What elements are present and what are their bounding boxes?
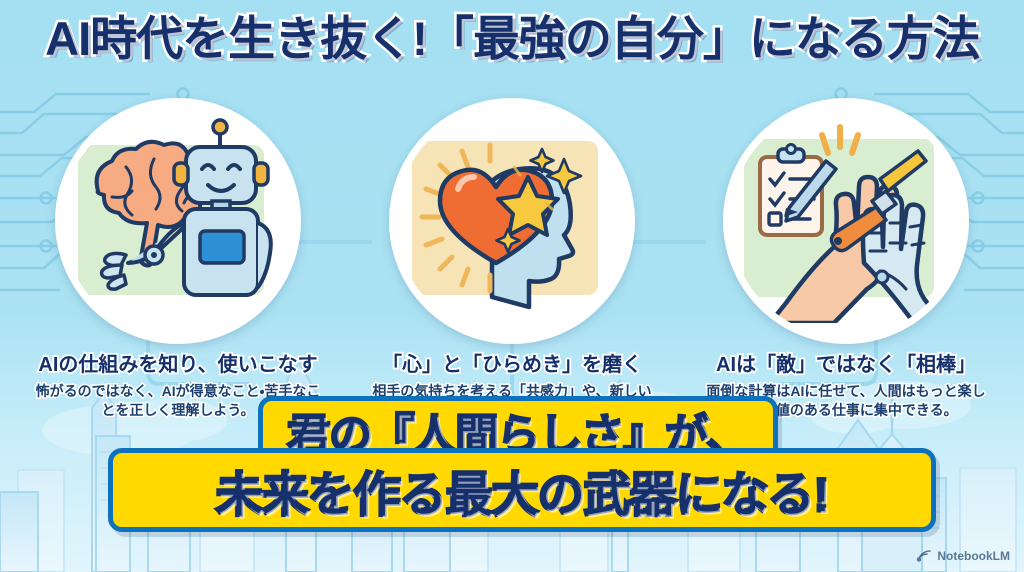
card-ai-partner[interactable]: AIは「敵」ではなく「相棒」 面倒な計算はAIに任せて、人間はもっと楽しくて価値… [700, 98, 992, 420]
card-3-icon-circle [723, 98, 969, 344]
notebooklm-watermark: NotebookLM [916, 549, 1010, 563]
card-2-title: 「心」と「ひらめき」を磨く [366, 353, 658, 377]
notebooklm-label: NotebookLM [937, 549, 1010, 563]
brain-robot-icon [62, 105, 280, 323]
card-1-icon-circle [55, 98, 301, 344]
card-3-title: AIは「敵」ではなく「相棒」 [700, 353, 992, 377]
bottom-banner: 君の『人間らしさ』が、 未来を作る最大の武器になる! [0, 396, 1024, 546]
heart-head-star-icon [396, 105, 614, 323]
high-five-hands-icon [730, 105, 948, 323]
banner-line-2: 未来を作る最大の武器になる! [216, 456, 829, 525]
card-2-icon-circle [389, 98, 635, 344]
title-container: AI時代を生き抜く!「最強の自分」になる方法 [0, 14, 1024, 64]
notebooklm-icon [916, 549, 932, 563]
banner-row-2: 未来を作る最大の武器になる! [108, 448, 936, 532]
card-heart-inspiration[interactable]: 「心」と「ひらめき」を磨く 相手の気持ちを考える「共感力」や、新しいことを思いつ… [366, 98, 658, 438]
card-1-title: AIの仕組みを知り、使いこなす [32, 353, 324, 377]
infographic-canvas: AI時代を生き抜く!「最強の自分」になる方法 [0, 0, 1024, 572]
page-title: AI時代を生き抜く!「最強の自分」になる方法 [45, 14, 979, 64]
card-understand-ai[interactable]: AIの仕組みを知り、使いこなす 怖がるのではなく、AIが得意なこと・苦手なことを… [32, 98, 324, 420]
